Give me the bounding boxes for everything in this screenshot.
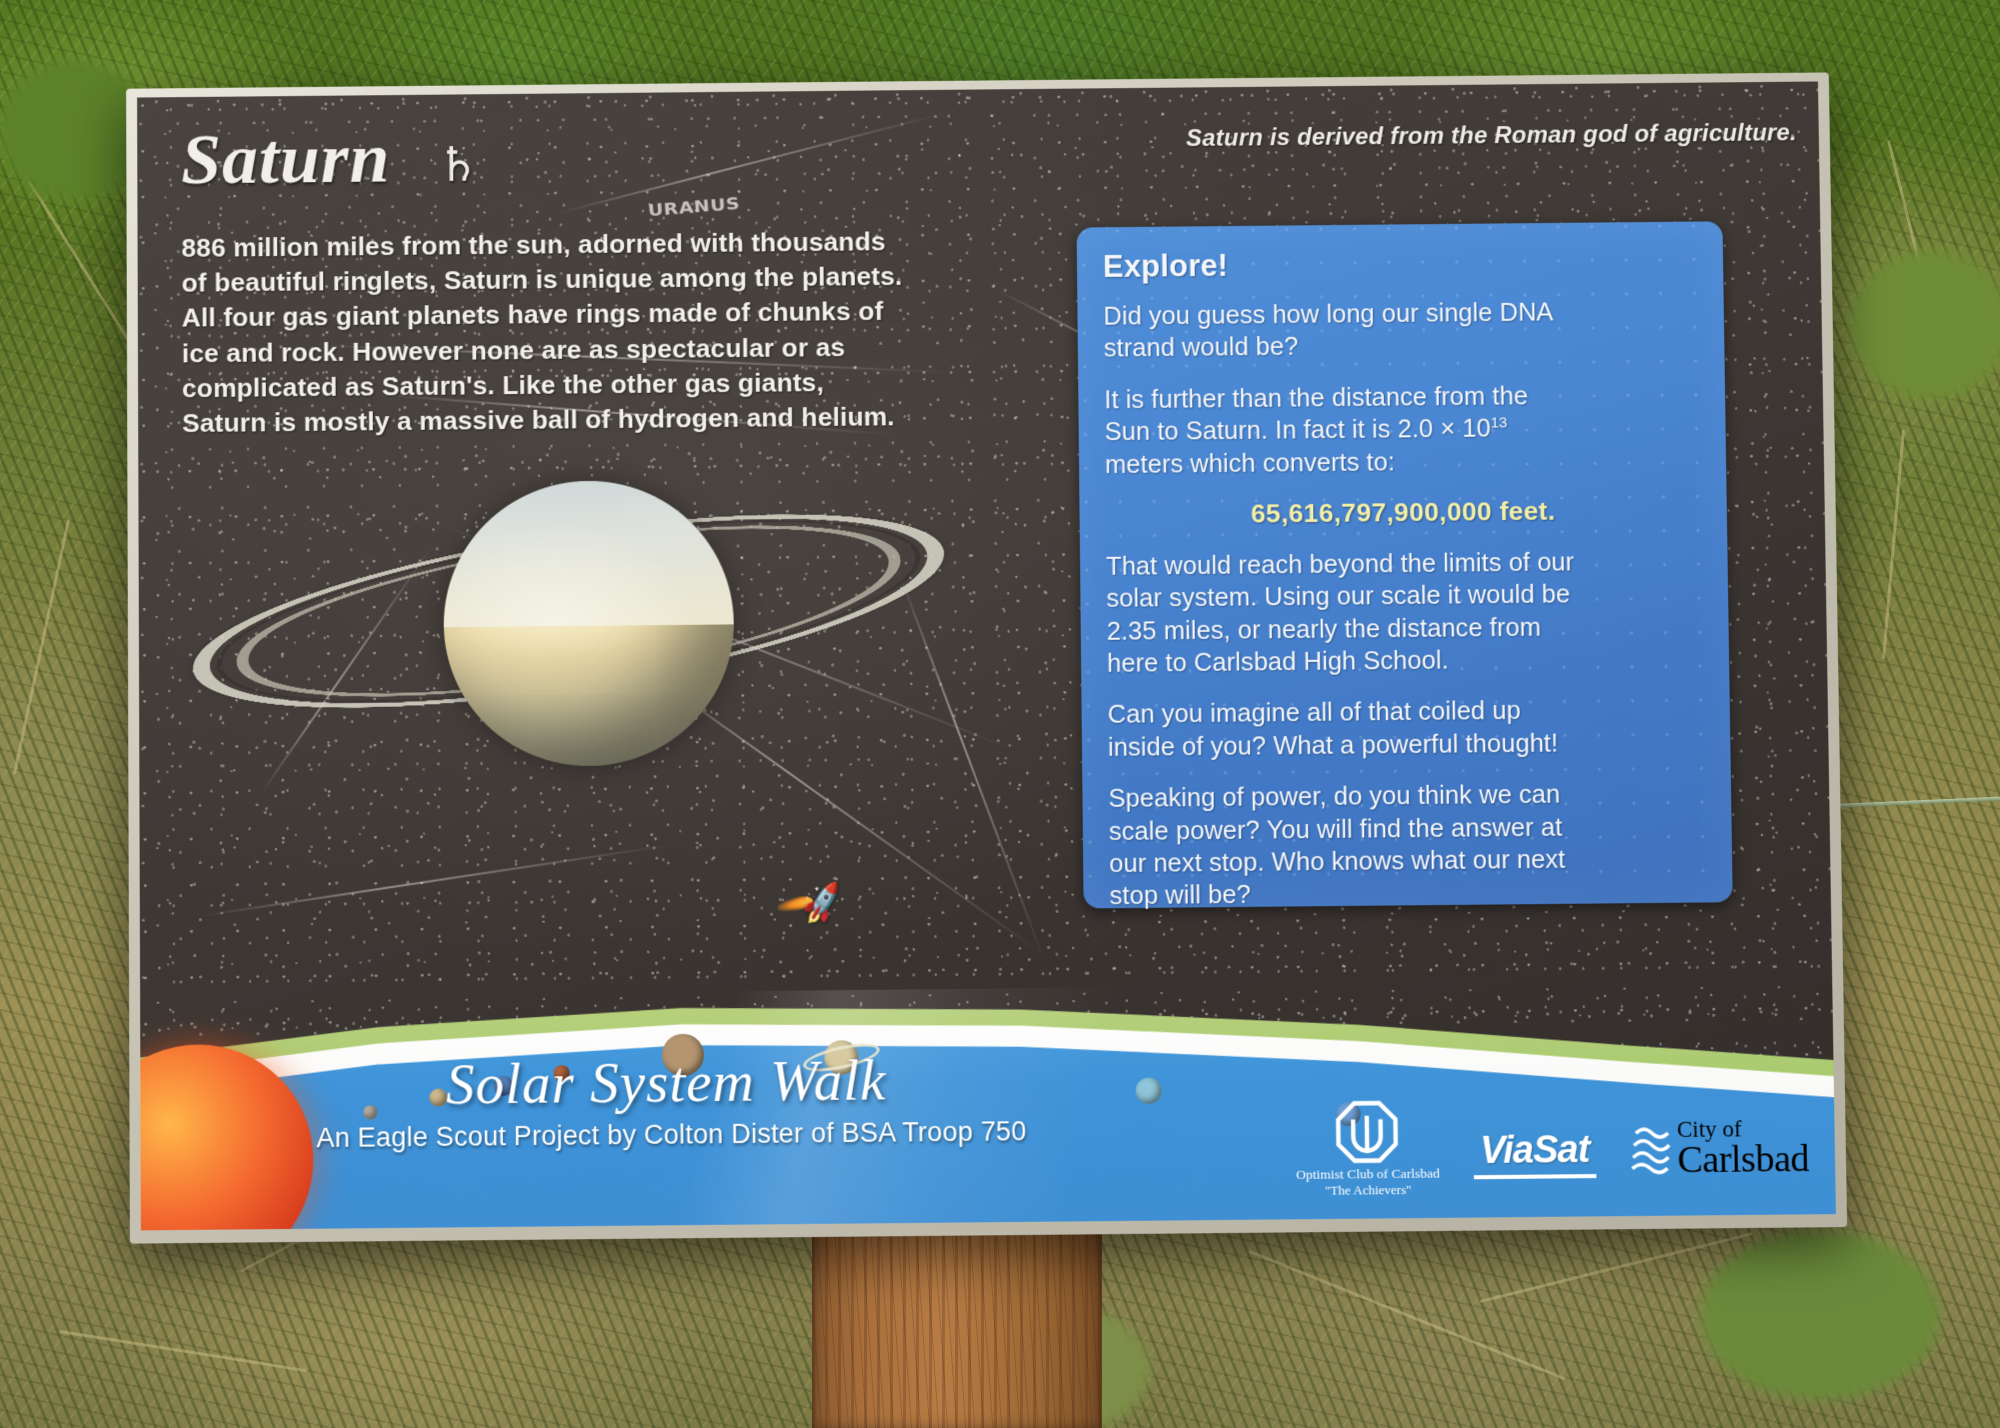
twig bbox=[13, 519, 70, 774]
twig bbox=[1480, 1232, 1752, 1303]
explore-p2-pre: It is further than the distance from the… bbox=[1104, 382, 1528, 446]
explore-exponent: 13 bbox=[1490, 414, 1507, 431]
twig bbox=[27, 180, 141, 360]
saturn-illustration bbox=[148, 418, 970, 806]
mercury-icon bbox=[363, 1105, 377, 1119]
explore-paragraph-1: Did you guess how long our single DNA st… bbox=[1103, 295, 1698, 365]
page-title: Saturn bbox=[181, 117, 391, 201]
viasat-logo: ViaSat bbox=[1473, 1129, 1596, 1180]
venus-icon bbox=[429, 1088, 447, 1106]
guy-wire bbox=[1840, 796, 2000, 807]
explore-heading: Explore! bbox=[1103, 243, 1698, 284]
carlsbad-wave-icon bbox=[1630, 1122, 1671, 1175]
uranus-icon bbox=[1136, 1078, 1162, 1104]
title-row: Saturn ♄ bbox=[181, 116, 479, 201]
sign-body-text: 886 million miles from the sun, adorned … bbox=[181, 224, 941, 442]
optimist-club-tagline: "The Achievers" bbox=[1325, 1182, 1412, 1199]
saturn-symbol-icon: ♄ bbox=[436, 137, 479, 193]
surface-scratch bbox=[556, 113, 942, 215]
optimist-club-name: Optimist Club of Carlsbad bbox=[1296, 1165, 1440, 1183]
explore-paragraph-2: It is further than the distance from the… bbox=[1104, 378, 1700, 480]
saturn-front-overlap bbox=[443, 480, 734, 628]
city-of-carlsbad-logo: City of Carlsbad bbox=[1630, 1117, 1810, 1180]
optimist-logo: Optimist Club of Carlsbad "The Achievers… bbox=[1295, 1100, 1440, 1199]
viasat-wordmark: ViaSat bbox=[1480, 1129, 1590, 1173]
explore-panel: Explore! Did you guess how long our sing… bbox=[1077, 221, 1733, 908]
rocket-icon: 🚀 bbox=[797, 880, 847, 928]
twig bbox=[1249, 1250, 1565, 1380]
explore-paragraph-4: Can you imagine all of that coiled up in… bbox=[1107, 693, 1704, 764]
sign-tagline: Saturn is derived from the Roman god of … bbox=[1186, 119, 1797, 153]
foliage-blob bbox=[1700, 1230, 1940, 1400]
sign-face: Saturn ♄ URANUS Saturn is derived from t… bbox=[137, 81, 1836, 1230]
photo-scene: Saturn ♄ URANUS Saturn is derived from t… bbox=[0, 0, 2000, 1428]
sponsor-logos: Optimist Club of Carlsbad "The Achievers… bbox=[1295, 1096, 1809, 1199]
explore-highlight-value: 65,616,797,900,000 feet. bbox=[1105, 494, 1701, 531]
carlsbad-name-label: Carlsbad bbox=[1677, 1140, 1809, 1180]
mars-icon bbox=[554, 1065, 570, 1081]
twig bbox=[1882, 430, 1905, 659]
explore-paragraph-5: Speaking of power, do you think we can s… bbox=[1108, 777, 1706, 913]
graffiti-scratch-text: URANUS bbox=[647, 194, 741, 220]
interpretive-sign: Saturn ♄ URANUS Saturn is derived from t… bbox=[126, 72, 1847, 1243]
sign-post bbox=[812, 1215, 1102, 1428]
viasat-underline bbox=[1474, 1174, 1597, 1179]
explore-paragraph-3: That would reach beyond the limits of ou… bbox=[1106, 545, 1703, 680]
foliage-blob bbox=[1850, 250, 2000, 400]
twig bbox=[1887, 140, 1933, 315]
jupiter-icon bbox=[662, 1034, 704, 1077]
sign-frame: Saturn ♄ URANUS Saturn is derived from t… bbox=[126, 72, 1847, 1243]
optimist-octagon-icon bbox=[1336, 1100, 1399, 1163]
twig bbox=[60, 1330, 307, 1372]
surface-scratch bbox=[200, 843, 676, 917]
earth-icon bbox=[493, 1076, 513, 1096]
bottom-banner: Solar System Walk An Eagle Scout Project… bbox=[140, 981, 1836, 1231]
